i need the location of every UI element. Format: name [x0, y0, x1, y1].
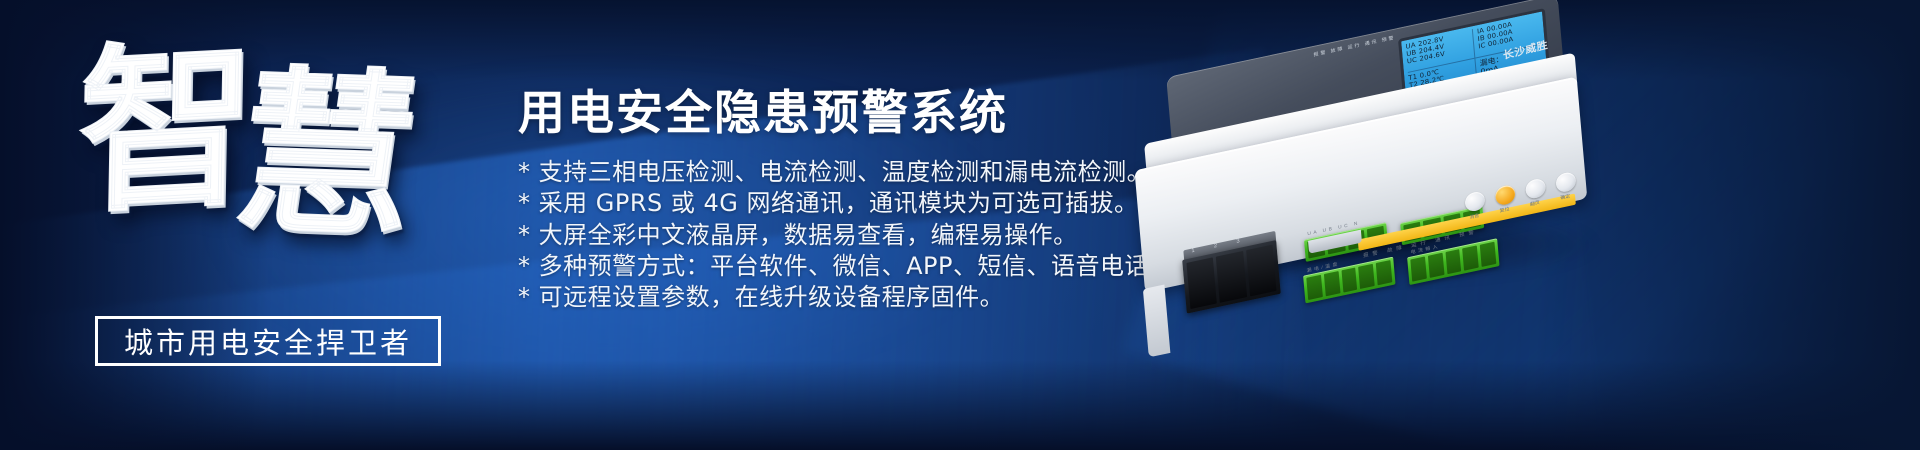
- calligraphy-char-hui: 慧: [226, 63, 429, 246]
- terminal-slot: [1306, 275, 1322, 300]
- tagline-box: 城市用电安全捍卫者: [95, 316, 441, 366]
- terminal-slot: [1341, 267, 1357, 292]
- terminal-slot: [1376, 260, 1392, 285]
- connector-pin: [1186, 257, 1217, 309]
- connector-pin: [1246, 245, 1277, 297]
- connector-pin: [1216, 251, 1247, 303]
- device-button-reset[interactable]: [1495, 184, 1516, 207]
- device-side-flap: [1143, 285, 1170, 358]
- promo-banner: 智 慧 城市用电安全捍卫者 用电安全隐患预警系统 * 支持三相电压检测、电流检测…: [0, 0, 1920, 450]
- product-image: 报警 故障 运行 通讯 预警 UA 202.8V UB 204.4V UC 20…: [1085, 10, 1645, 340]
- green-terminal-block: [1303, 257, 1395, 304]
- terminal-slot: [1445, 249, 1461, 274]
- terminal-slot: [1428, 253, 1444, 278]
- device-button-confirm[interactable]: [1555, 171, 1576, 194]
- terminal-slot: [1324, 271, 1340, 296]
- device-3d: 报警 故障 运行 通讯 预警 UA 202.8V UB 204.4V UC 20…: [1119, 0, 1601, 337]
- calligraphy-logotype: 智 慧: [72, 18, 402, 308]
- device-button-page[interactable]: [1525, 177, 1546, 200]
- terminal-slot: [1410, 256, 1426, 281]
- terminal-slot: [1359, 264, 1375, 289]
- terminal-slot: [1480, 242, 1496, 267]
- tagline-text: 城市用电安全捍卫者: [124, 320, 412, 362]
- faceplate-caption: 报警 故障 运行 通讯 预警: [1313, 34, 1395, 58]
- terminal-slot: [1463, 245, 1479, 270]
- calligraphy-char-zhi: 智: [77, 35, 258, 223]
